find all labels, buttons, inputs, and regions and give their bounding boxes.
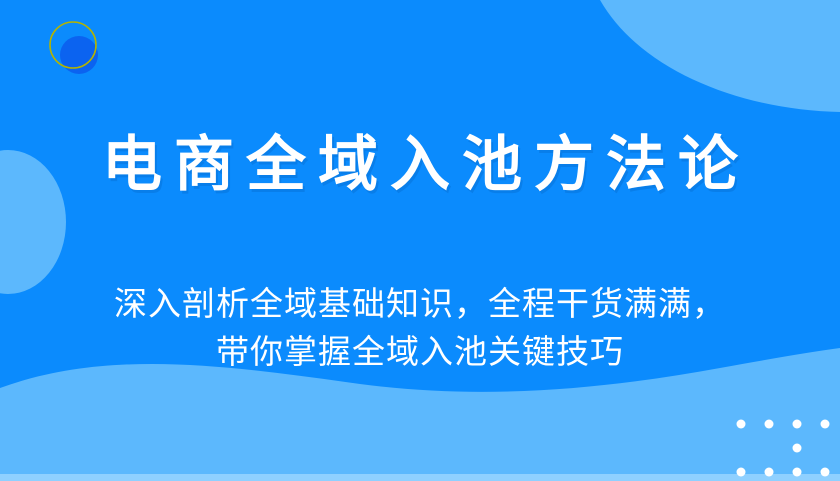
poster-subtitle-line-1: 深入剖析全域基础知识，全程干货满满， xyxy=(0,280,840,328)
poster-subtitle-line-2: 带你掌握全域入池关键技巧 xyxy=(0,328,840,376)
poster-subtitle: 深入剖析全域基础知识，全程干货满满， 带你掌握全域入池关键技巧 xyxy=(0,280,840,376)
poster-content: 电商全域入池方法论 深入剖析全域基础知识，全程干货满满， 带你掌握全域入池关键技… xyxy=(0,0,840,481)
poster-canvas: 电商全域入池方法论 深入剖析全域基础知识，全程干货满满， 带你掌握全域入池关键技… xyxy=(0,0,840,481)
poster-title: 电商全域入池方法论 xyxy=(0,128,840,202)
